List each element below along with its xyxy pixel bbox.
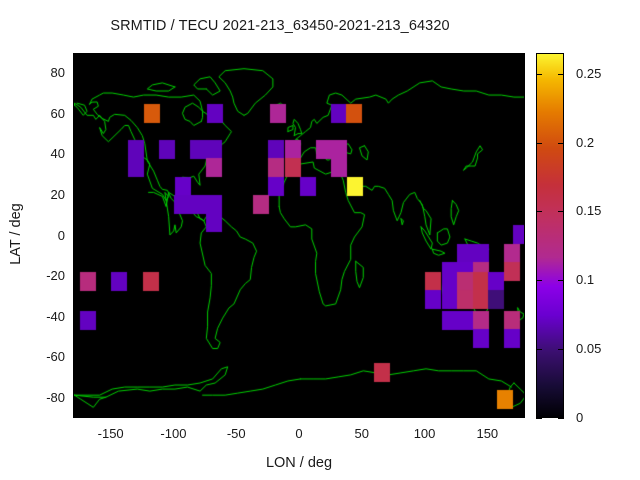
colorbar-tick-label: 0.15 xyxy=(576,203,601,218)
colorbar-tick-mark xyxy=(536,211,542,212)
colorbar-tick-label: 0.05 xyxy=(576,341,601,356)
y-tick-label: 0 xyxy=(25,228,65,243)
map-plot-area xyxy=(73,53,525,418)
colorbar-tick-label: 0.1 xyxy=(576,272,594,287)
colorbar-tick-mark xyxy=(536,349,542,350)
colorbar-tick-label: 0 xyxy=(576,410,583,425)
heatmap-cell-layer xyxy=(74,54,525,418)
colorbar-tick-mark xyxy=(558,143,564,144)
colorbar-tick-label: 0.25 xyxy=(576,66,601,81)
colorbar-tick-mark xyxy=(536,74,542,75)
y-tick-label: 20 xyxy=(25,187,65,202)
colorbar-tick-mark xyxy=(558,349,564,350)
y-tick-label: -20 xyxy=(25,268,65,283)
colorbar-tick-mark xyxy=(558,74,564,75)
x-tick-label: 50 xyxy=(332,426,392,441)
colorbar-tick-mark xyxy=(536,418,542,419)
x-tick-label: -100 xyxy=(143,426,203,441)
y-tick-label: 80 xyxy=(25,65,65,80)
x-tick-label: -50 xyxy=(206,426,266,441)
colorbar-tick-mark xyxy=(558,418,564,419)
y-tick-label: -40 xyxy=(25,309,65,324)
colorbar-gradient xyxy=(536,53,564,418)
x-tick-label: 0 xyxy=(269,426,329,441)
colorbar-tick-mark xyxy=(558,280,564,281)
colorbar-tick-label: 0.2 xyxy=(576,135,594,150)
chart-figure: SRMTID / TECU 2021-213_63450-2021-213_64… xyxy=(0,0,640,480)
x-tick-label: 150 xyxy=(457,426,517,441)
y-tick-label: 60 xyxy=(25,106,65,121)
y-axis-title: LAT / deg xyxy=(8,184,24,284)
colorbar xyxy=(536,53,564,418)
y-tick-label: -80 xyxy=(25,390,65,405)
y-tick-label: -60 xyxy=(25,349,65,364)
page-title: SRMTID / TECU 2021-213_63450-2021-213_64… xyxy=(0,18,560,34)
colorbar-tick-mark xyxy=(536,280,542,281)
x-axis-title: LON / deg xyxy=(0,455,598,471)
y-tick-label: 40 xyxy=(25,146,65,161)
x-tick-label: 100 xyxy=(395,426,455,441)
colorbar-tick-mark xyxy=(558,211,564,212)
x-tick-label: -150 xyxy=(81,426,141,441)
colorbar-tick-mark xyxy=(536,143,542,144)
